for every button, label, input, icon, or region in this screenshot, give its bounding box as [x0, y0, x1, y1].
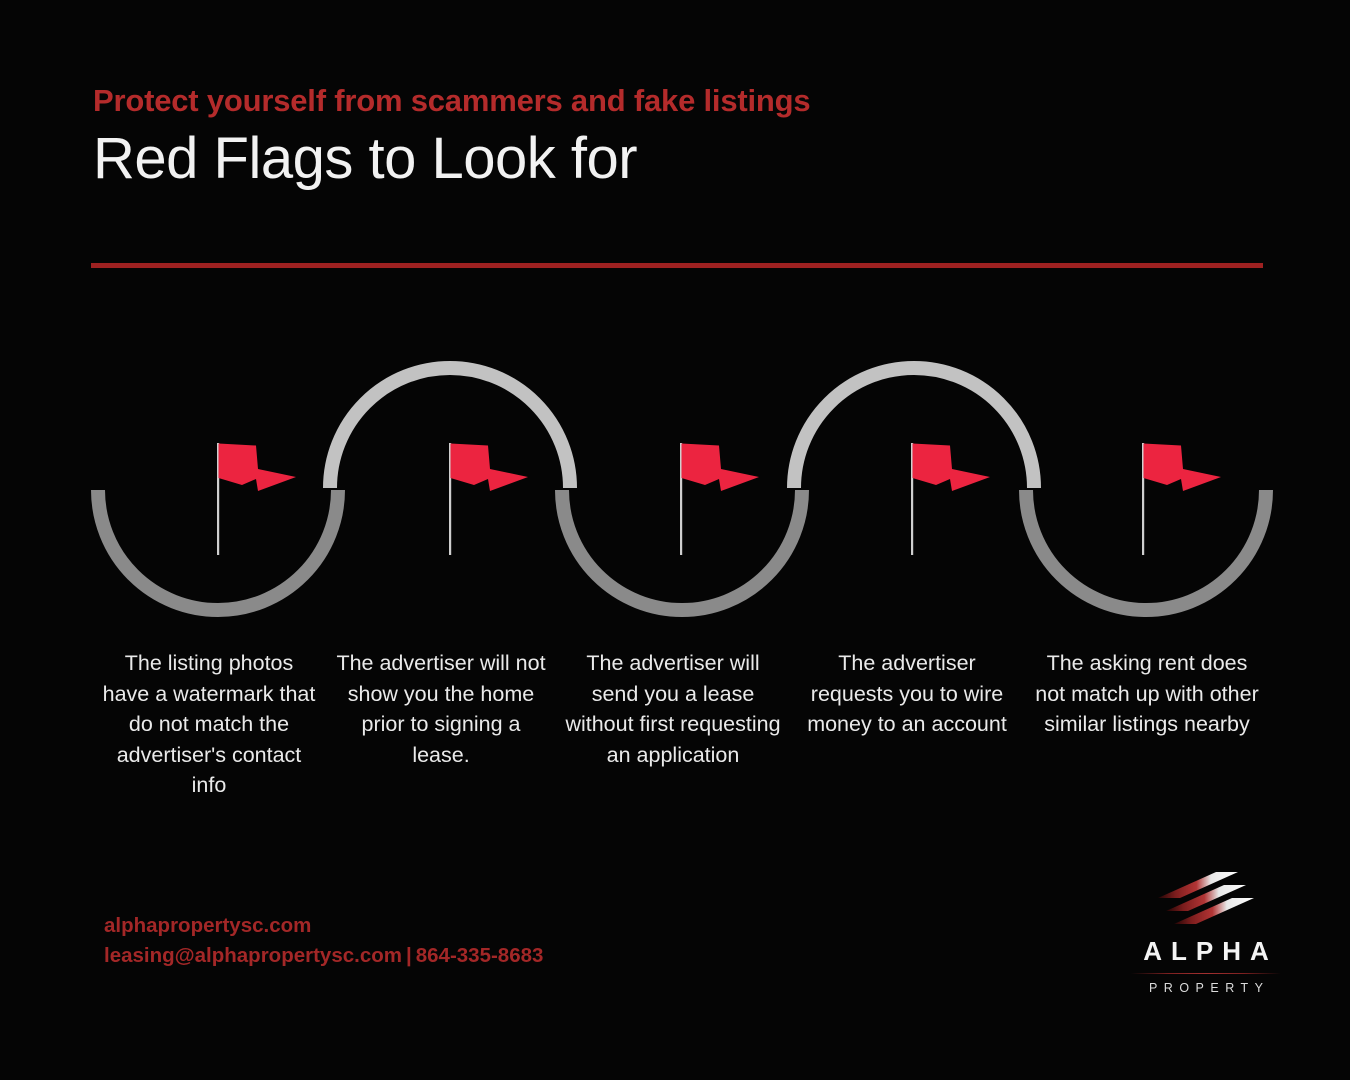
wave-flags-graphic: [0, 330, 1350, 630]
infographic-poster: Protect yourself from scammers and fake …: [0, 0, 1350, 1080]
header: Protect yourself from scammers and fake …: [93, 84, 1273, 192]
eyebrow-text: Protect yourself from scammers and fake …: [93, 84, 1273, 118]
header-divider-rule: [91, 263, 1263, 268]
caption-item-5: The asking rent does not match up with o…: [1025, 648, 1269, 740]
red-flag-icon-1: [217, 443, 296, 555]
red-flag-icon-5: [1142, 443, 1221, 555]
logo-divider: [1131, 973, 1281, 974]
phone-number[interactable]: 864-335-8683: [416, 944, 544, 967]
email-link[interactable]: leasing@alphapropertysc.com: [104, 944, 402, 967]
caption-item-2: The advertiser will not show you the hom…: [325, 648, 557, 770]
caption-item-4: The advertiser requests you to wire mone…: [789, 648, 1025, 740]
caption-item-1: The listing photos have a watermark that…: [93, 648, 325, 801]
caption-row: The listing photos have a watermark that…: [93, 648, 1273, 801]
logo-subtitle-property: PROPERTY: [1118, 982, 1294, 995]
page-title: Red Flags to Look for: [93, 127, 1273, 192]
contact-separator: |: [402, 944, 416, 967]
red-flag-icon-2: [449, 443, 528, 555]
wave-svg: [0, 330, 1350, 630]
alpha-property-logo: ALPHA PROPERTY: [1118, 868, 1294, 995]
logo-name-alpha: ALPHA: [1118, 938, 1294, 964]
red-flag-icon-4: [911, 443, 990, 555]
red-flag-icon-3: [680, 443, 759, 555]
website-link[interactable]: alphapropertysc.com: [104, 914, 311, 937]
contact-block: alphapropertysc.com leasing@alphapropert…: [104, 911, 543, 970]
alpha-chevron-mark-icon: [1154, 868, 1258, 926]
wave-arc-down-3: [1026, 490, 1266, 610]
caption-item-3: The advertiser will send you a lease wit…: [557, 648, 789, 770]
